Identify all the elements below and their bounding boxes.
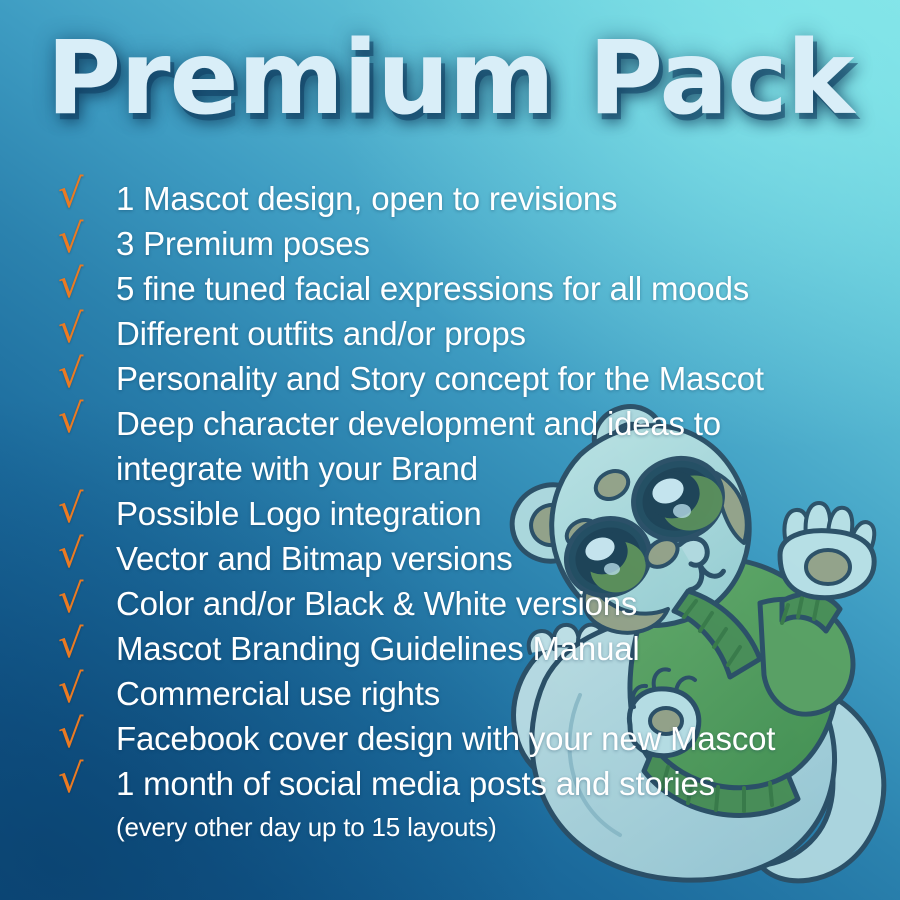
feature-item-label: integrate with your Brand bbox=[116, 446, 882, 491]
feature-item: √3 Premium poses bbox=[52, 221, 882, 266]
checkmark-icon: √ bbox=[52, 759, 116, 799]
checkmark-icon: √ bbox=[52, 489, 116, 529]
premium-pack-poster: Premium Pack √1 Mascot design, open to r… bbox=[0, 0, 900, 900]
feature-item-label: 3 Premium poses bbox=[116, 221, 882, 266]
feature-item-label: Mascot Branding Guidelines Manual bbox=[116, 626, 882, 671]
feature-item: √1 month of social media posts and stori… bbox=[52, 761, 882, 806]
feature-item-label: Deep character development and ideas to bbox=[116, 401, 882, 446]
feature-item-label: Possible Logo integration bbox=[116, 491, 882, 536]
checkmark-icon: √ bbox=[52, 534, 116, 574]
feature-item-label: Personality and Story concept for the Ma… bbox=[116, 356, 882, 401]
checkmark-icon: √ bbox=[52, 624, 116, 664]
checkmark-icon: √ bbox=[52, 669, 116, 709]
feature-item: √Personality and Story concept for the M… bbox=[52, 356, 882, 401]
page-title: Premium Pack bbox=[0, 28, 900, 130]
checkmark-icon: √ bbox=[52, 309, 116, 349]
feature-item: √1 Mascot design, open to revisions bbox=[52, 176, 882, 221]
feature-item: √Possible Logo integration bbox=[52, 491, 882, 536]
feature-item: √Mascot Branding Guidelines Manual bbox=[52, 626, 882, 671]
feature-item-label: (every other day up to 15 layouts) bbox=[116, 806, 882, 848]
feature-item: √Vector and Bitmap versions bbox=[52, 536, 882, 581]
checkmark-icon: √ bbox=[52, 354, 116, 394]
checkmark-icon: √ bbox=[52, 219, 116, 259]
feature-list: √1 Mascot design, open to revisions√3 Pr… bbox=[52, 176, 882, 851]
checkmark-icon: √ bbox=[52, 264, 116, 304]
checkmark-icon: √ bbox=[52, 399, 116, 439]
feature-item-label: 5 fine tuned facial expressions for all … bbox=[116, 266, 882, 311]
feature-item: √Commercial use rights bbox=[52, 671, 882, 716]
feature-item: √Different outfits and/or props bbox=[52, 311, 882, 356]
feature-item: integrate with your Brand bbox=[52, 446, 882, 491]
feature-item-label: 1 Mascot design, open to revisions bbox=[116, 176, 882, 221]
feature-item-label: 1 month of social media posts and storie… bbox=[116, 761, 882, 806]
feature-item-label: Vector and Bitmap versions bbox=[116, 536, 882, 581]
feature-item: (every other day up to 15 layouts) bbox=[52, 806, 882, 851]
checkmark-icon: √ bbox=[52, 579, 116, 619]
feature-item-label: Different outfits and/or props bbox=[116, 311, 882, 356]
feature-item-label: Color and/or Black & White versions bbox=[116, 581, 882, 626]
feature-item-label: Facebook cover design with your new Masc… bbox=[116, 716, 882, 761]
feature-item: √Deep character development and ideas to bbox=[52, 401, 882, 446]
checkmark-icon: √ bbox=[52, 714, 116, 754]
feature-item: √Color and/or Black & White versions bbox=[52, 581, 882, 626]
feature-item: √5 fine tuned facial expressions for all… bbox=[52, 266, 882, 311]
feature-item: √Facebook cover design with your new Mas… bbox=[52, 716, 882, 761]
checkmark-icon: √ bbox=[52, 174, 116, 214]
feature-item-label: Commercial use rights bbox=[116, 671, 882, 716]
